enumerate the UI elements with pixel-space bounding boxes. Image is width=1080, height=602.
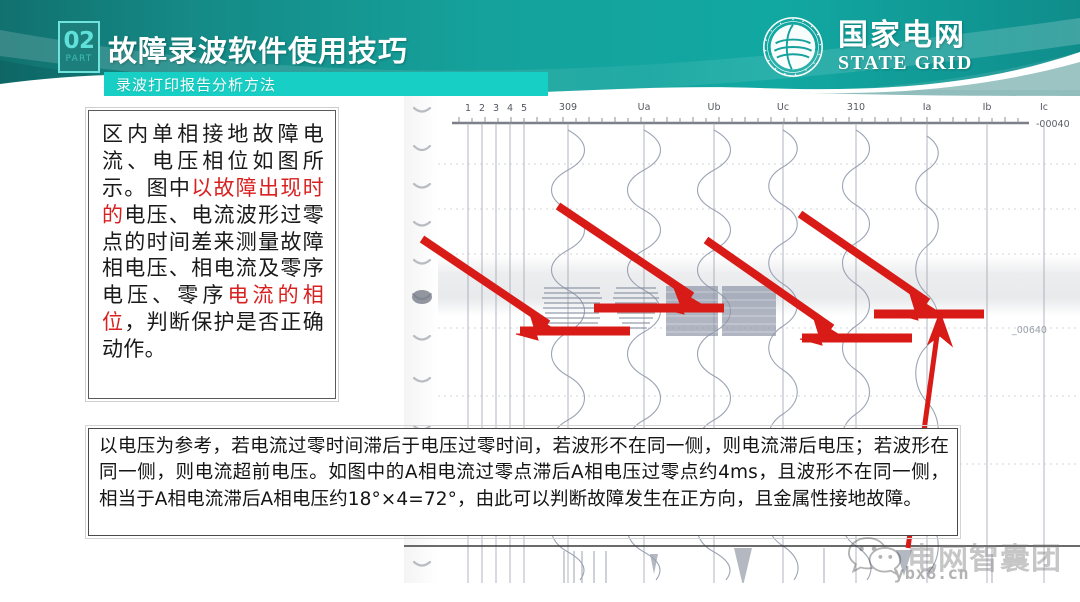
- channel-label: Ub: [708, 102, 721, 113]
- page-title: 故障录波软件使用技巧: [108, 28, 408, 70]
- part-number: 02: [63, 30, 94, 53]
- channel-label: 309: [559, 102, 577, 113]
- state-grid-emblem-icon: [762, 16, 824, 78]
- slide-root: 02 PART 故障录波软件使用技巧 录波打印报告分析方法: [0, 0, 1080, 602]
- axis-value-top-right: -00040: [1036, 119, 1070, 130]
- bottom-description-text: 以电压为参考，若电流过零时间滞后于电压过零时间，若波形不在同一侧，则电流滞后电压…: [99, 434, 949, 513]
- channel-label: 3: [493, 103, 499, 114]
- subtitle-text: 录波打印报告分析方法: [116, 74, 276, 95]
- channel-label: 1: [465, 103, 471, 114]
- left-description-text: 区内单相接地故障电流、电压相位如图所示。图中以故障出现时的电压、电流波形过零点的…: [102, 121, 324, 363]
- brand-logo-text: 国家电网 STATE GRID: [838, 21, 973, 73]
- brand-name-en: STATE GRID: [838, 53, 973, 73]
- bottom-description-box: 以电压为参考，若电流过零时间滞后于电压过零时间，若波形不在同一侧，则电流滞后电压…: [88, 428, 958, 536]
- part-label: PART: [66, 55, 93, 64]
- subtitle-bar: 录波打印报告分析方法: [104, 72, 548, 96]
- part-badge: 02 PART: [58, 21, 100, 73]
- channel-label: Ia: [923, 102, 932, 113]
- left-description-box: 区内单相接地故障电流、电压相位如图所示。图中以故障出现时的电压、电流波形过零点的…: [88, 110, 336, 399]
- channel-label: Ua: [638, 102, 651, 113]
- channel-label: Ib: [983, 102, 992, 113]
- header-banner: 02 PART 故障录波软件使用技巧 录波打印报告分析方法: [0, 0, 1080, 96]
- axis-value-mid-right: _00640: [1011, 325, 1047, 336]
- brand-name-cn: 国家电网: [838, 21, 973, 51]
- channel-label: 4: [507, 103, 513, 114]
- channel-label: Uc: [777, 102, 789, 113]
- brand-logo: 国家电网 STATE GRID: [762, 16, 973, 78]
- channel-label: 2: [479, 103, 485, 114]
- channel-label: Ic: [1040, 102, 1048, 113]
- channel-label: 5: [521, 103, 527, 114]
- channel-label: 310: [847, 102, 865, 113]
- left-seg-4: ，判断保护是否正确动作。: [102, 310, 324, 361]
